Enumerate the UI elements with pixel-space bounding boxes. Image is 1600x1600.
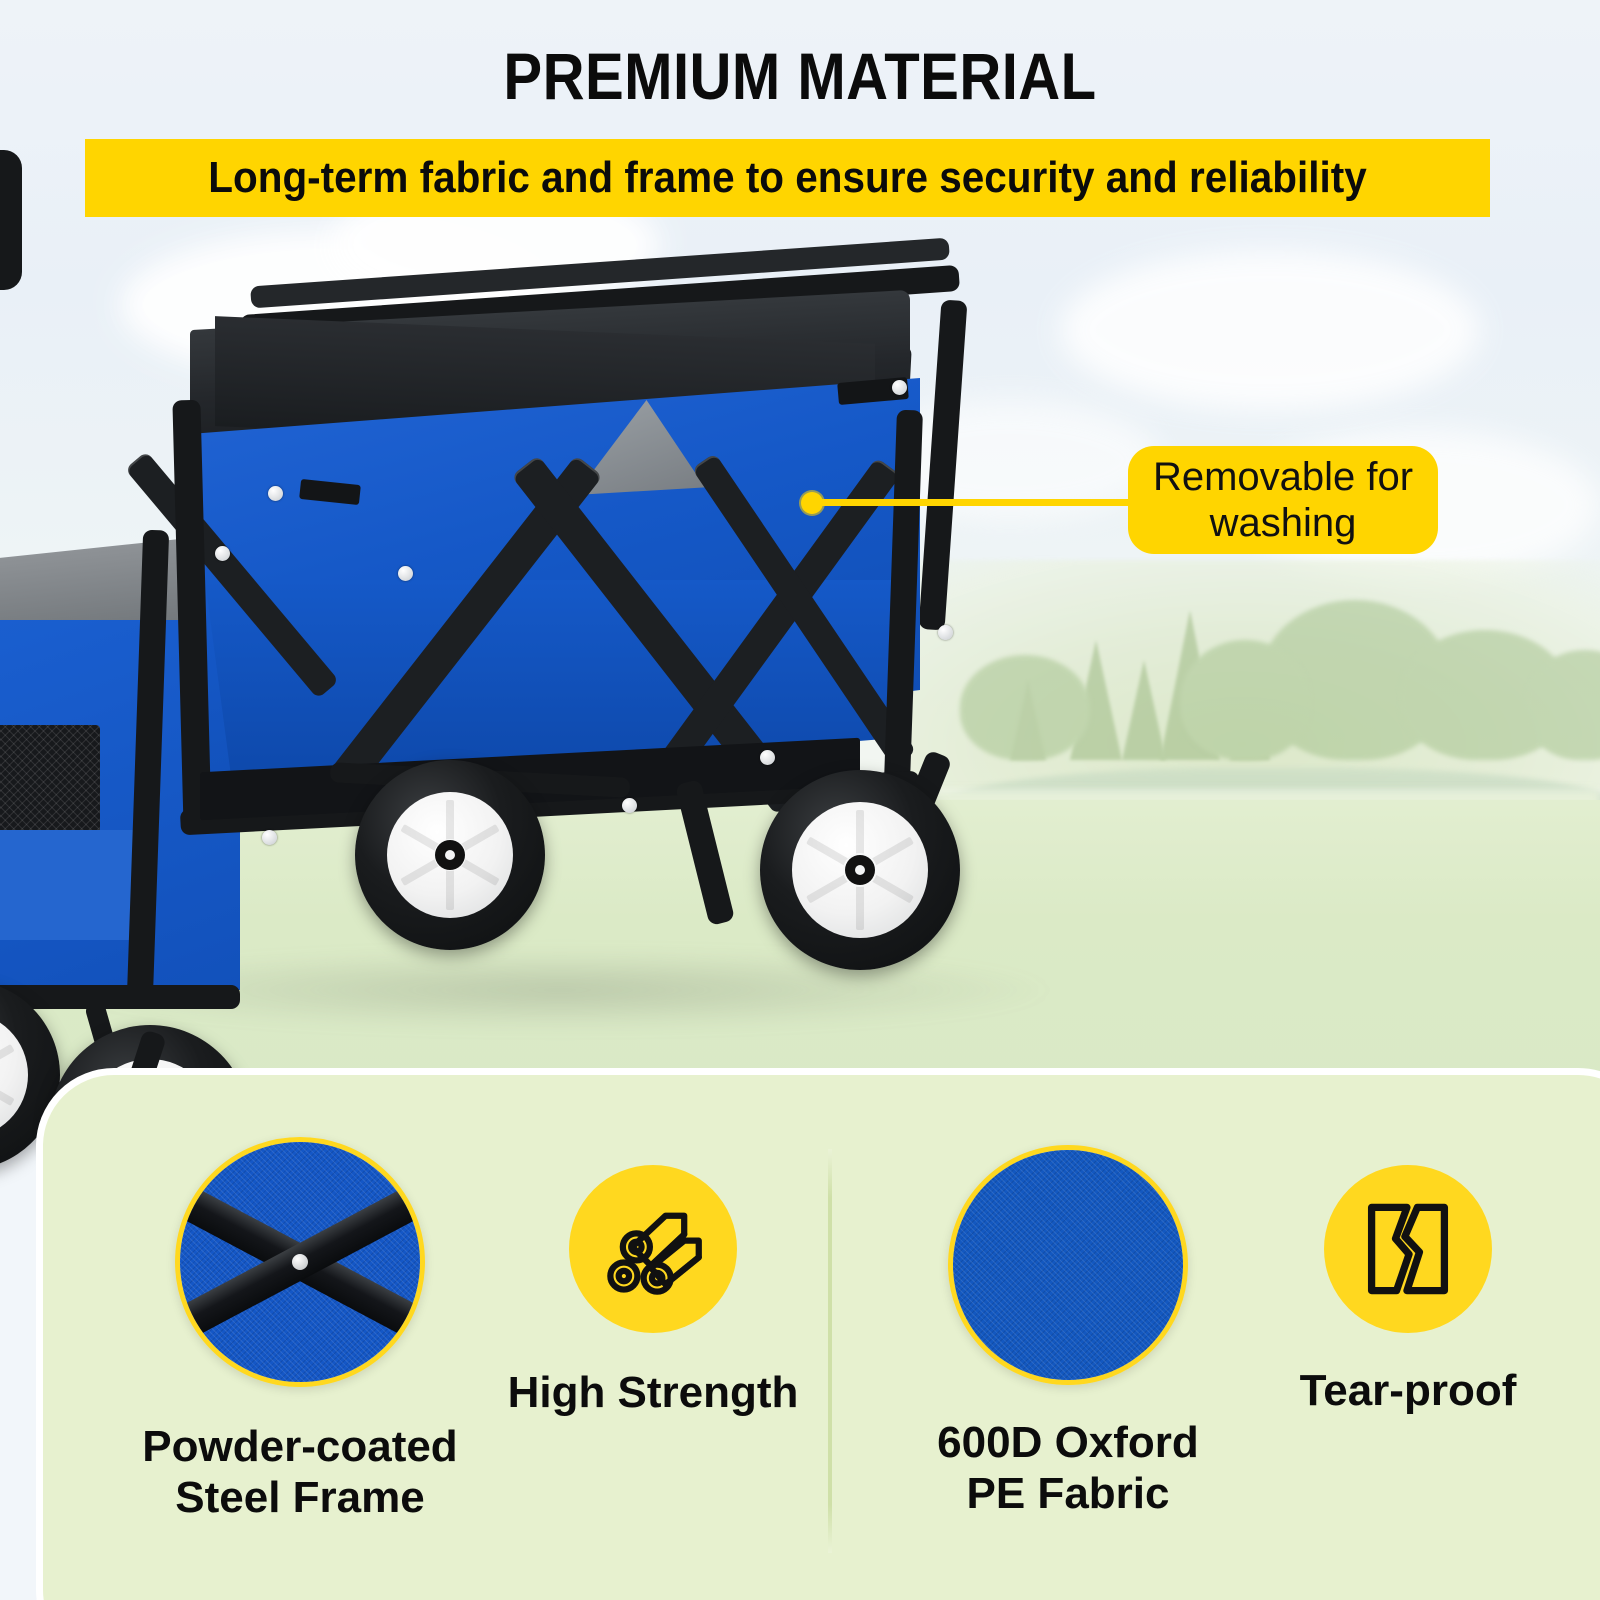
frame-corner-post <box>919 299 968 630</box>
rivet <box>268 486 283 501</box>
wheel-front <box>760 770 960 970</box>
blue-oxford-fabric-swatch-icon <box>948 1145 1188 1385</box>
rivet <box>215 546 230 561</box>
subtitle-banner: Long-term fabric and frame to ensure sec… <box>85 139 1490 217</box>
feature-powder-coated-steel-frame: Powder-coated Steel Frame <box>85 1137 515 1523</box>
callout-label: Removable for washing <box>1128 454 1438 547</box>
rivet <box>262 830 277 845</box>
page-title: PREMIUM MATERIAL <box>96 38 1504 114</box>
rivet <box>398 566 413 581</box>
feature-high-strength: High Strength <box>483 1165 823 1418</box>
feature-panel: Powder-coated Steel Frame <box>36 1068 1600 1600</box>
cloud <box>1060 250 1480 410</box>
rivet <box>892 380 907 395</box>
rivet <box>622 798 637 813</box>
callout-removable-for-washing: Removable for washing <box>1128 446 1438 554</box>
wheel-axle-cap <box>845 855 875 885</box>
callout-leader-line <box>818 499 1138 506</box>
wheel-rear <box>355 760 545 950</box>
feature-600d-oxford-pe-fabric: 600D Oxford PE Fabric <box>883 1145 1253 1519</box>
steel-tubes-stack-icon <box>569 1165 737 1333</box>
wheel-axle-cap <box>435 840 465 870</box>
feature-caption: 600D Oxford PE Fabric <box>883 1417 1253 1519</box>
rivet <box>760 750 775 765</box>
infographic-canvas: PREMIUM MATERIAL Long-term fabric and fr… <box>0 0 1600 1600</box>
round-tree <box>1180 640 1310 760</box>
feature-caption: High Strength <box>483 1367 823 1418</box>
feature-tear-proof: Tear-proof <box>1238 1165 1578 1416</box>
blue-fabric-x-frame-swatch-icon <box>175 1137 425 1387</box>
wagon-product <box>0 250 1060 1070</box>
torn-fabric-icon <box>1324 1165 1492 1333</box>
subtitle-text: Long-term fabric and frame to ensure sec… <box>141 139 1434 217</box>
rivet <box>938 625 953 640</box>
panel-divider <box>828 1149 832 1553</box>
wheel-spoke <box>0 1072 15 1106</box>
feature-caption: Powder-coated Steel Frame <box>85 1421 515 1523</box>
feature-caption: Tear-proof <box>1238 1365 1578 1416</box>
